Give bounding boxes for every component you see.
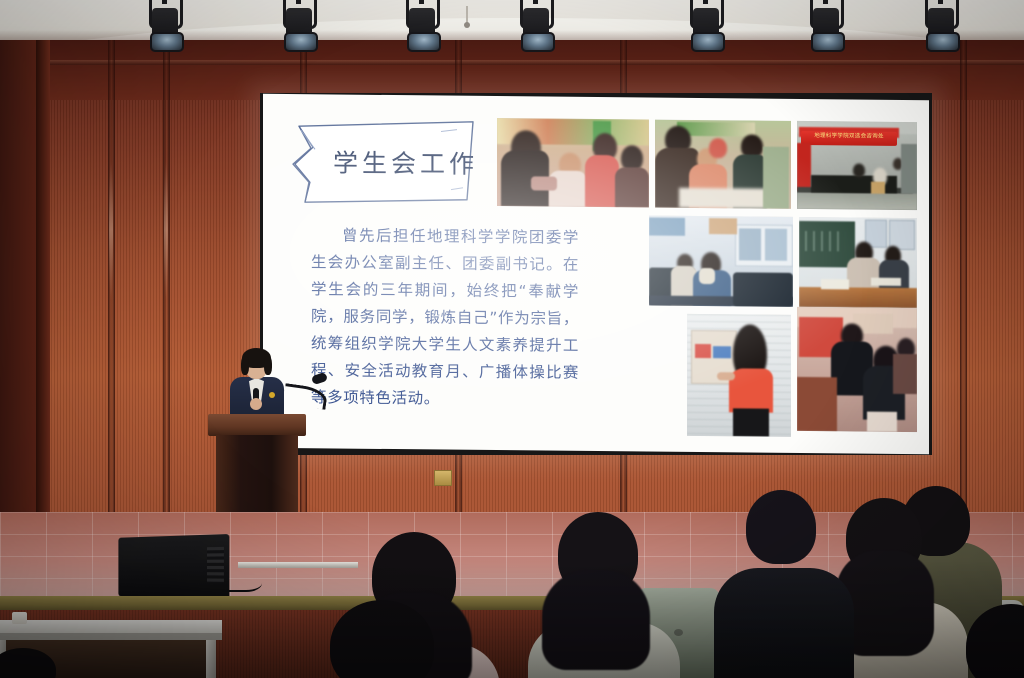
slide-title-banner: 学生会工作 (291, 114, 481, 208)
audience-1 (0, 648, 60, 678)
photo-top-3: 地理科学学院双选会咨询处 (797, 121, 917, 210)
audience-5 (722, 490, 840, 670)
photo-bot-1 (687, 314, 791, 437)
wall-left-dark-panel (0, 40, 40, 520)
wall-trim (0, 60, 1024, 65)
photo-mid-1 (649, 216, 793, 307)
photo-mid-2 (799, 217, 917, 308)
projection-screen-frame: 学生会工作 曾先后担任地理科学学院团委学生会办公室副主任、团委副书记。在学生会的… (260, 93, 932, 455)
photo-banner: 地理科学学院双选会咨询处 (801, 131, 897, 146)
audience-2 (330, 600, 460, 678)
photo-top-1 (497, 118, 649, 207)
floor-monitor-speaker (118, 534, 229, 600)
wall-seam (960, 40, 967, 520)
audience-4 (536, 512, 668, 678)
photo-top-2 (655, 120, 791, 209)
stage-floor-strip (238, 562, 358, 568)
photo-bot-2 (797, 307, 917, 432)
ceiling-hook (466, 6, 468, 24)
speaker-cable (222, 570, 262, 592)
audience-8 (966, 604, 1024, 678)
presenter (228, 348, 286, 418)
auditorium-photo: 学生会工作 曾先后担任地理科学学院团委学生会办公室副主任、团委副书记。在学生会的… (0, 0, 1024, 678)
lapel-pin (269, 392, 275, 398)
wall-socket-plate (434, 470, 452, 486)
paper-cup (12, 612, 27, 624)
projection-screen: 学生会工作 曾先后担任地理科学学院团委学生会办公室副主任、团委副书记。在学生会的… (263, 94, 929, 454)
wall-seam (108, 40, 115, 520)
podium-gooseneck-microphone (284, 372, 326, 412)
slide-body-text: 曾先后担任地理科学学院团委学生会办公室副主任、团委副书记。在学生会的三年期间，始… (311, 222, 579, 414)
wall-corner-post (36, 40, 50, 520)
slide-title-text: 学生会工作 (333, 143, 478, 180)
wall-seam (163, 40, 170, 520)
photo-banner-text: 地理科学学院双选会咨询处 (805, 131, 893, 140)
